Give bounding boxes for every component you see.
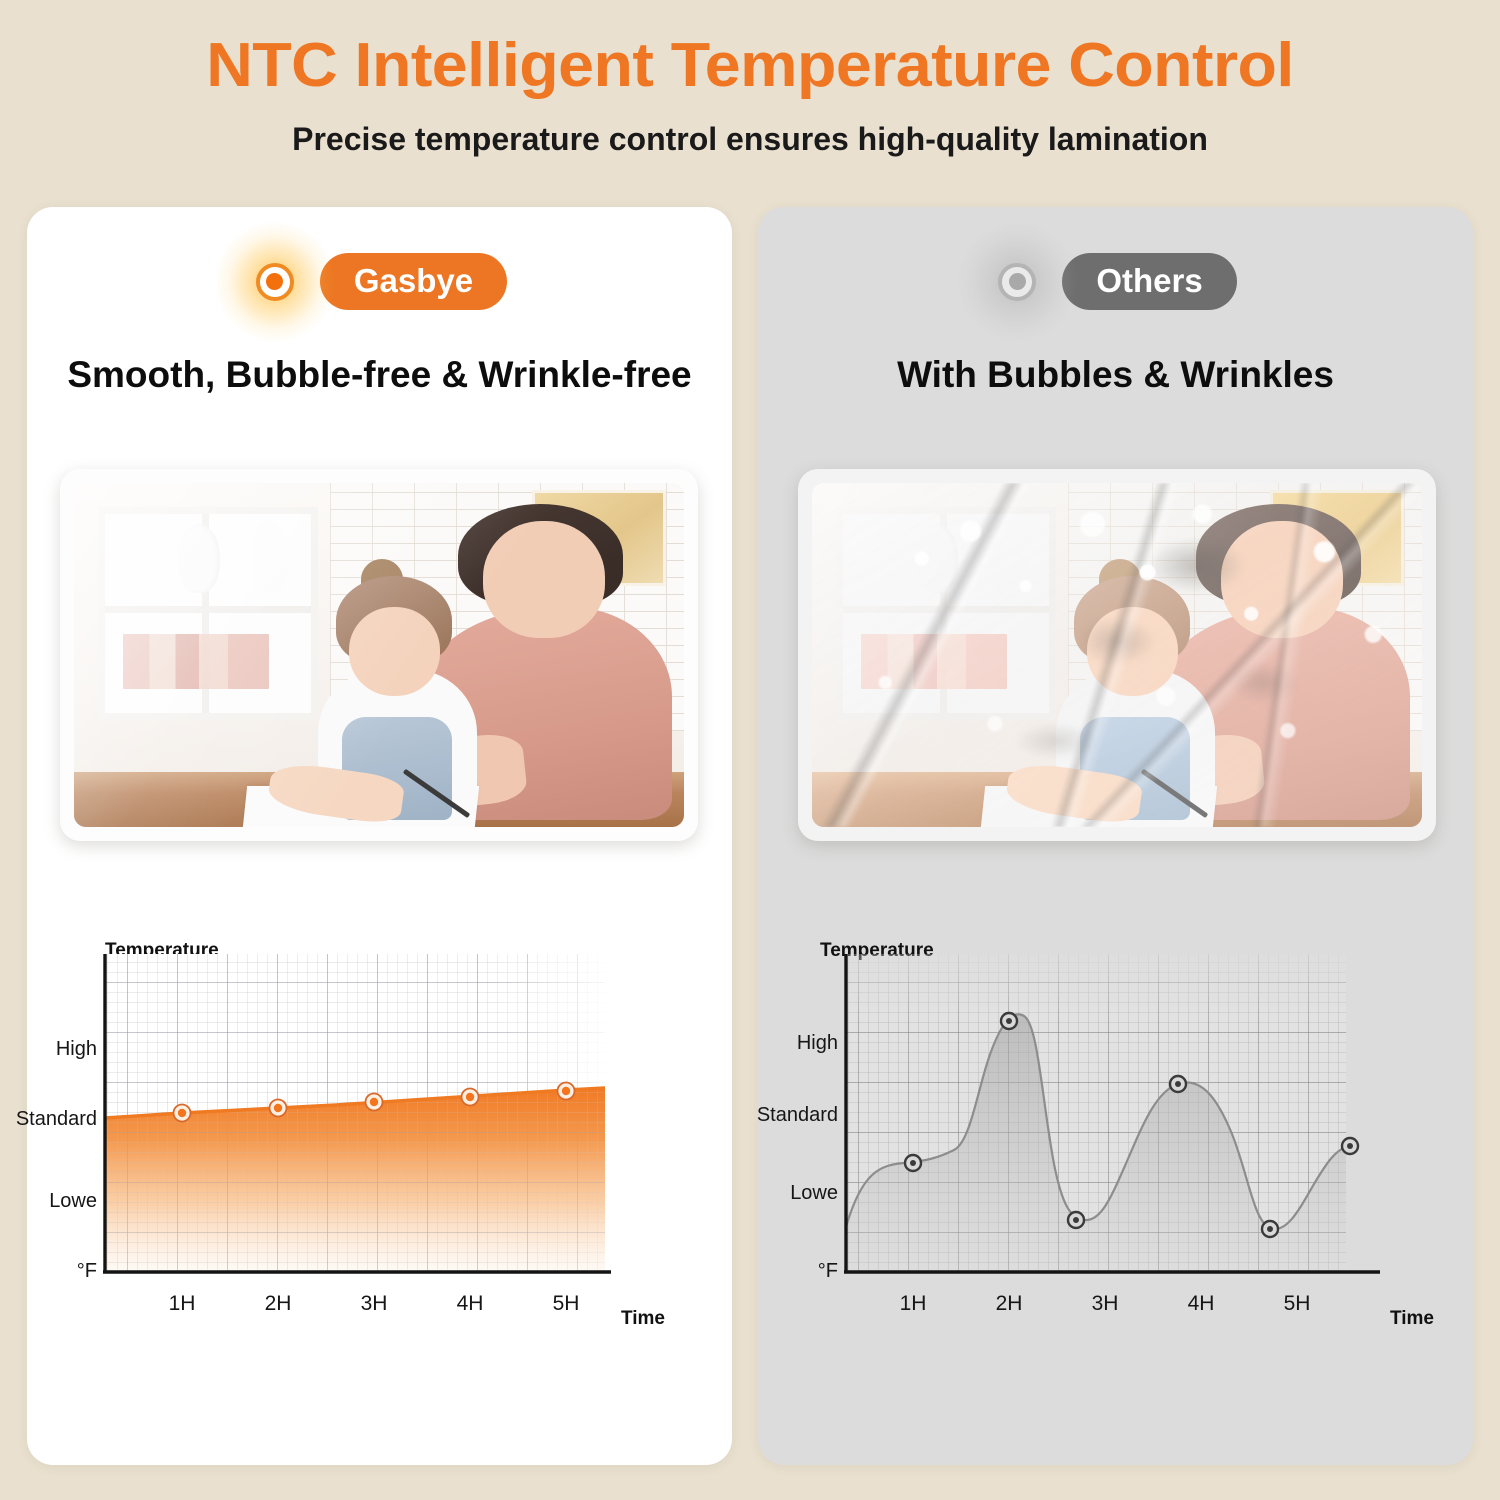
heading-gasbye: Smooth, Bubble-free & Wrinkle-free	[27, 354, 732, 396]
chart-ytick-lowe: Lowe	[25, 1190, 97, 1213]
vase-left	[178, 524, 221, 593]
photo-frame-others	[798, 469, 1436, 841]
child-head	[349, 607, 441, 696]
infographic-page: NTC Intelligent Temperature Control Prec…	[0, 0, 1500, 1500]
heading-others: With Bubbles & Wrinkles	[758, 354, 1473, 396]
badge-row-others: Others	[758, 253, 1473, 310]
chart-xtick-4h: 4H	[1171, 1292, 1231, 1316]
chart-xtick-2h: 2H	[979, 1292, 1039, 1316]
dot-ring-gray	[998, 263, 1036, 301]
room-scene-illustration	[74, 483, 684, 827]
vase-right	[989, 521, 1026, 597]
child-head	[1087, 607, 1179, 696]
photo-frame-gasbye	[60, 469, 698, 841]
chart-xtick-3h: 3H	[344, 1292, 404, 1316]
dot-core-gray	[1009, 273, 1026, 290]
dot-ring	[256, 263, 294, 301]
panel-gasbye: Gasbye Smooth, Bubble-free & Wrinkle-fre…	[27, 207, 732, 1465]
chart-ytick-unit: °F	[784, 1260, 838, 1283]
header: NTC Intelligent Temperature Control Prec…	[0, 0, 1500, 158]
mother-head	[1221, 521, 1343, 638]
chart-ytick-lowe: Lowe	[764, 1182, 838, 1205]
chart-ytick-unit: °F	[43, 1260, 97, 1283]
room-scene-illustration-defective	[812, 483, 1422, 827]
chart-xtick-3h: 3H	[1075, 1292, 1135, 1316]
chart-others: Temperature Time	[758, 932, 1473, 1372]
chart-xtick-5h: 5H	[1267, 1292, 1327, 1316]
mother-head	[483, 521, 605, 638]
chart-xtick-4h: 4H	[440, 1292, 500, 1316]
chart-others-svg	[758, 932, 1473, 1332]
photo-gasbye	[74, 483, 684, 827]
chart-xtick-1h: 1H	[152, 1292, 212, 1316]
chart-xtick-1h: 1H	[883, 1292, 943, 1316]
vase-left	[916, 524, 959, 593]
chart-ytick-standard: Standard	[9, 1108, 97, 1131]
badge-row-gasbye: Gasbye	[27, 253, 732, 310]
chart-ytick-standard: Standard	[746, 1104, 838, 1127]
dot-core	[266, 273, 283, 290]
panel-others: Others With Bubbles & Wrinkles	[758, 207, 1473, 1465]
page-subtitle: Precise temperature control ensures high…	[0, 101, 1500, 158]
chart-ytick-high: High	[25, 1038, 97, 1061]
books	[123, 634, 269, 689]
badge-others[interactable]: Others	[1062, 253, 1236, 310]
chart-gasbye: Temperature Time	[27, 932, 732, 1372]
chart-xtick-2h: 2H	[248, 1292, 308, 1316]
page-title: NTC Intelligent Temperature Control	[0, 0, 1500, 101]
gray-dot-icon	[994, 259, 1040, 305]
chart-ytick-high: High	[764, 1032, 838, 1055]
chart-gasbye-svg	[27, 932, 732, 1332]
chart-xtick-5h: 5H	[536, 1292, 596, 1316]
glow-dot-icon	[252, 259, 298, 305]
photo-others	[812, 483, 1422, 827]
books	[861, 634, 1007, 689]
badge-gasbye[interactable]: Gasbye	[320, 253, 507, 310]
vase-right	[251, 521, 288, 597]
